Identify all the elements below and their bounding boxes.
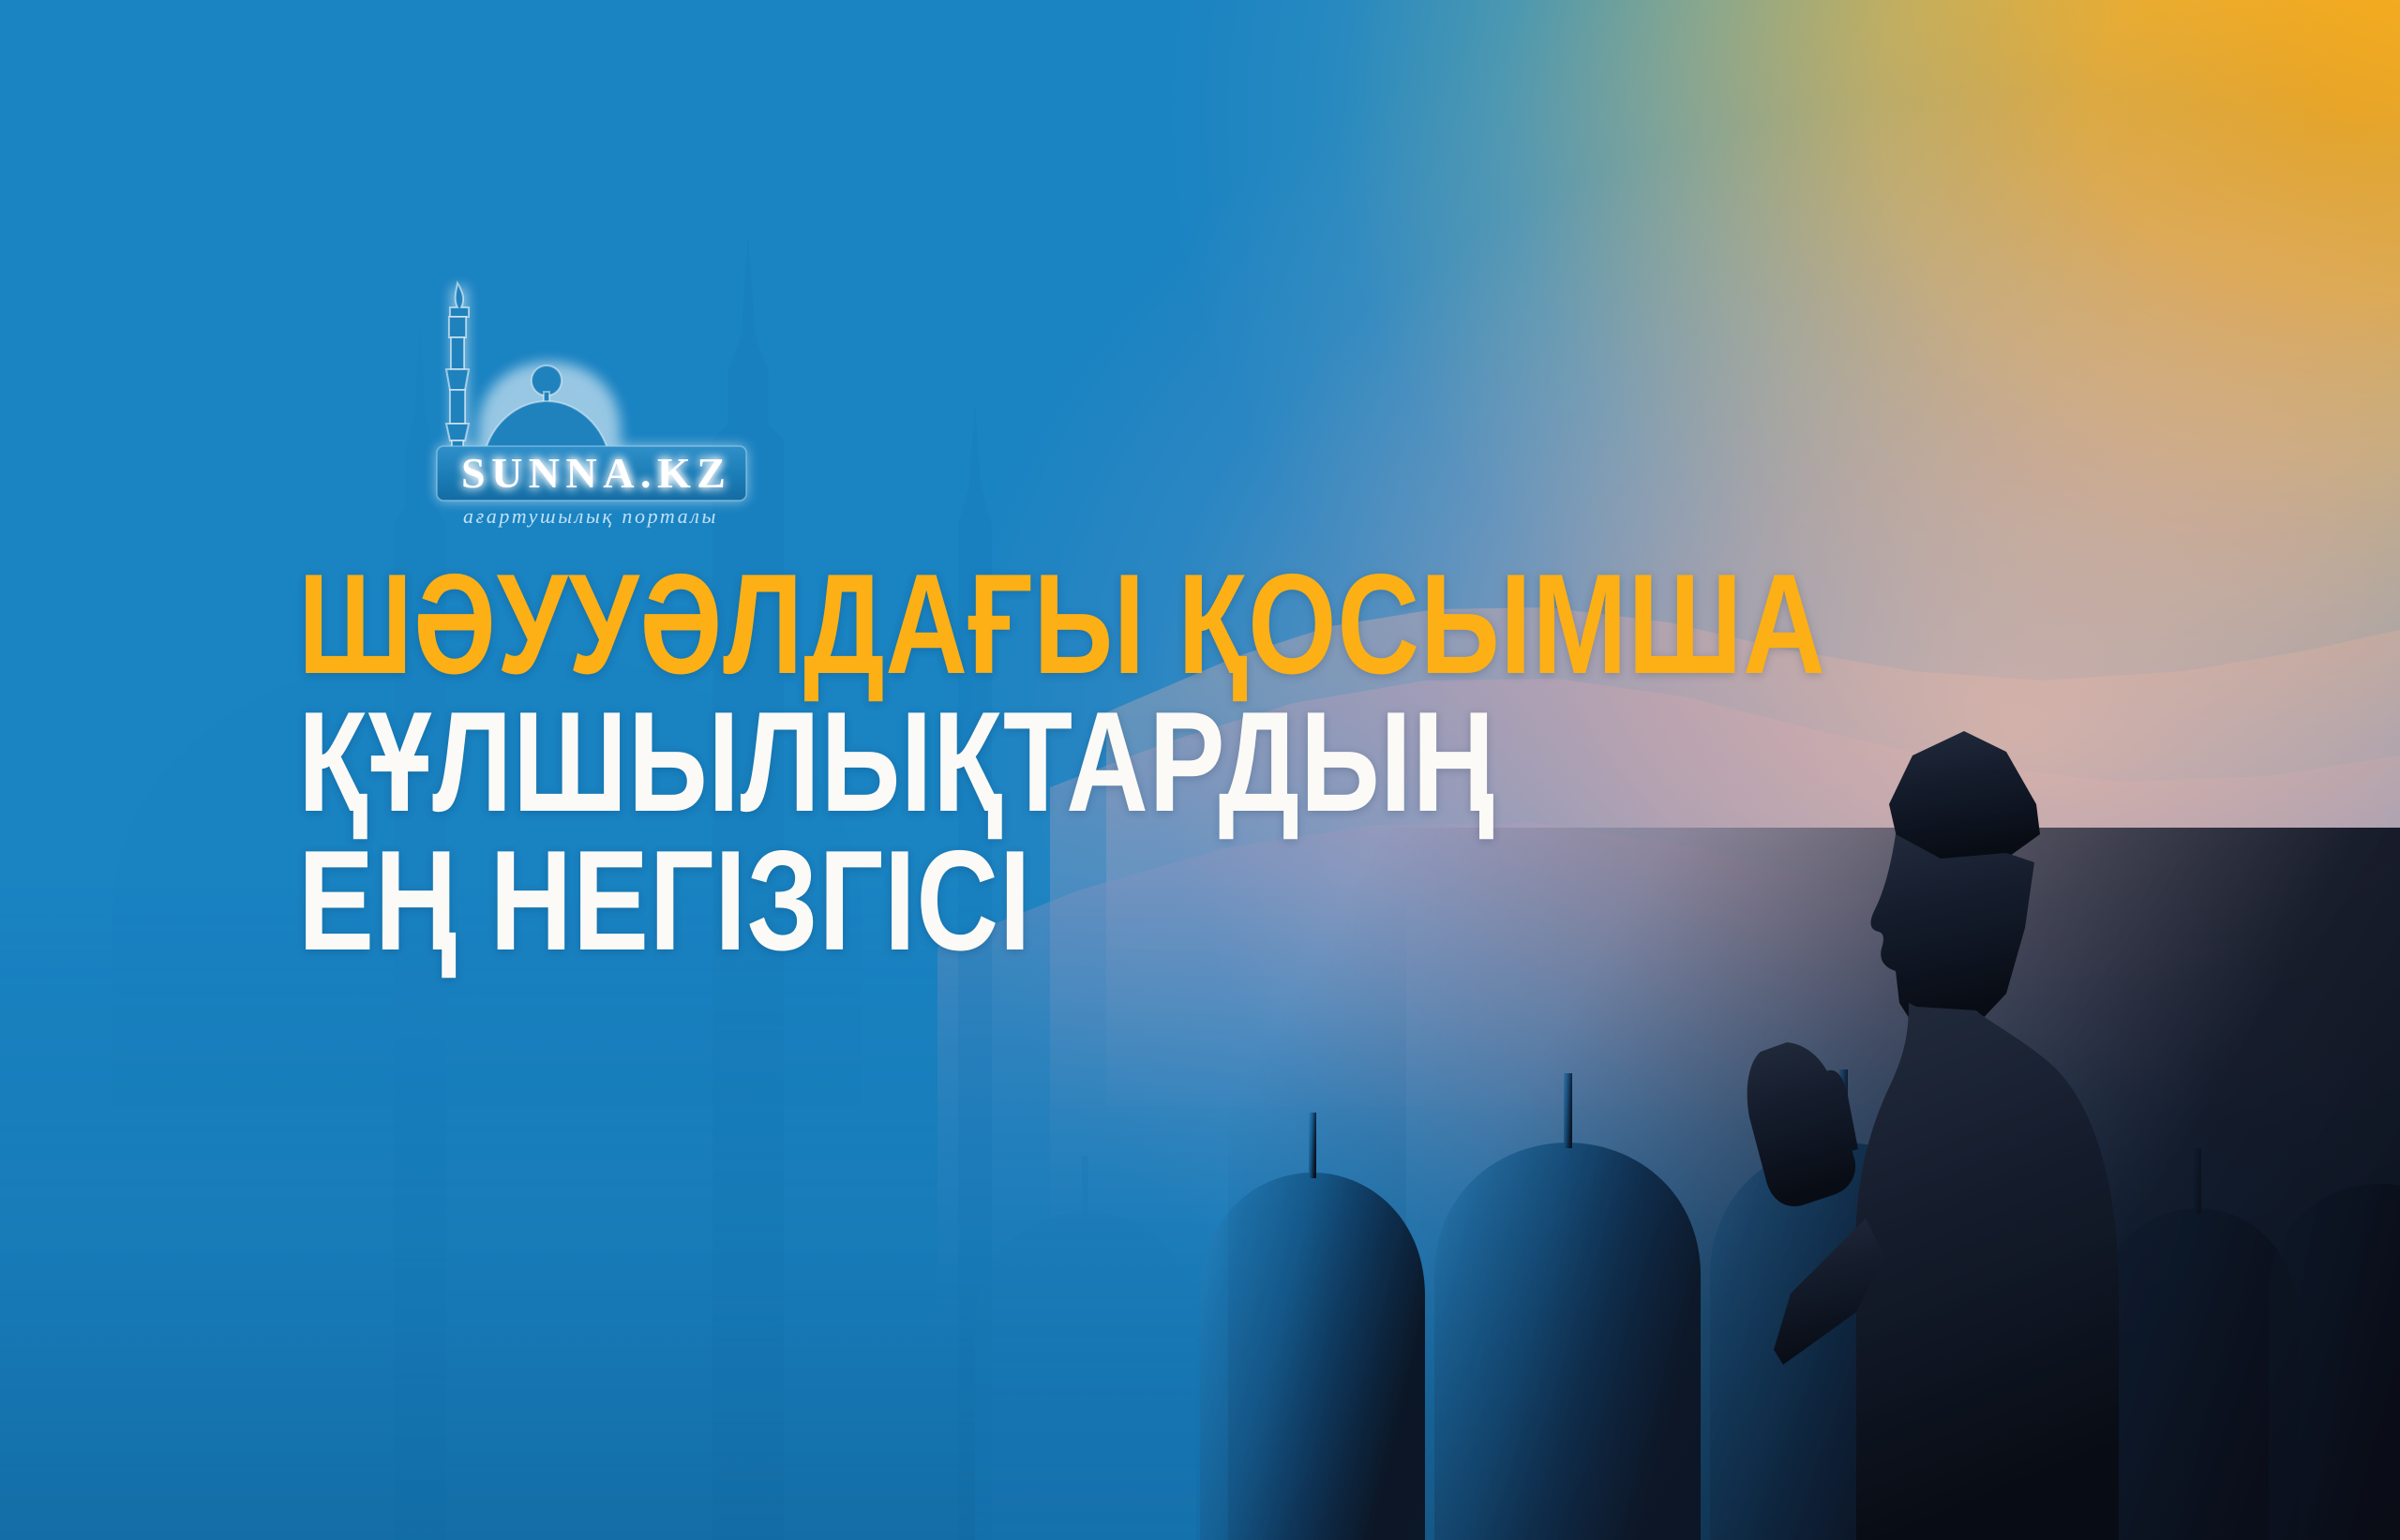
headline-line-2: ҚҰЛШЫЛЫҚТАРДЫҢ (298, 696, 1513, 829)
headline-line-1: ШӘУУӘЛДАҒЫ ҚОСЫМША (298, 559, 1513, 691)
body-silhouette (1856, 1003, 2119, 1540)
logo-tagline: ағартушылық порталы (463, 504, 718, 528)
headline-block: ШӘУУӘЛДАҒЫ ҚОСЫМША ҚҰЛШЫЛЫҚТАРДЫҢ ЕҢ НЕГ… (298, 559, 1817, 967)
logo-wordmark: SUNNA.KZ (461, 449, 731, 497)
banner-canvas: SUNNA.KZ ағартушылық порталы ШӘУУӘЛДАҒЫ … (0, 0, 2400, 1540)
praying-man-silhouette (1725, 694, 2400, 1540)
dome-finial-faint (1082, 1156, 1088, 1216)
head-silhouette (1870, 834, 2034, 1025)
minaret-icon (446, 283, 469, 469)
kufi-cap-icon (1889, 731, 2040, 862)
headline-line-3: ЕҢ НЕГІЗГІСІ (298, 835, 1513, 967)
site-logo[interactable]: SUNNA.KZ ағартушылық порталы (424, 272, 799, 544)
mosque-dome-faint (975, 1212, 1196, 1540)
praying-hands-icon (1747, 1042, 1858, 1206)
